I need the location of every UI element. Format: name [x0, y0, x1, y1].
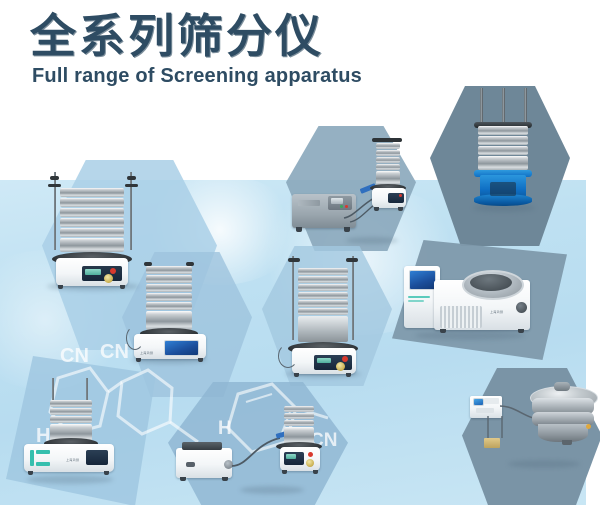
product-freeze-dryer[interactable]: 上海鸿测	[404, 258, 536, 338]
bottom-white-strip	[0, 505, 600, 521]
banner-heading: 全系列筛分仪 Full range of Screening apparatus	[30, 12, 362, 88]
product-sieve-shaker-tall-center[interactable]	[276, 252, 370, 376]
product-vertical-sieve-shaker-blue[interactable]	[466, 88, 542, 212]
product-rotary-vibrating-screen[interactable]	[470, 382, 596, 468]
page-title-cn: 全系列筛分仪	[30, 12, 362, 60]
page-title-en: Full range of Screening apparatus	[32, 65, 362, 88]
product-sieve-shaker-teal-bottom-left[interactable]: 上海鸿测	[22, 378, 118, 482]
product-sieve-shaker-touchscreen-mid[interactable]: 上海鸿测	[126, 260, 212, 362]
product-air-jet-sieve-unit[interactable]	[176, 406, 312, 496]
product-banner: CN CN H H CN 全系列筛分仪 Full range of Screen…	[0, 0, 600, 521]
product-sieve-shaker-control-unit[interactable]	[292, 138, 410, 246]
